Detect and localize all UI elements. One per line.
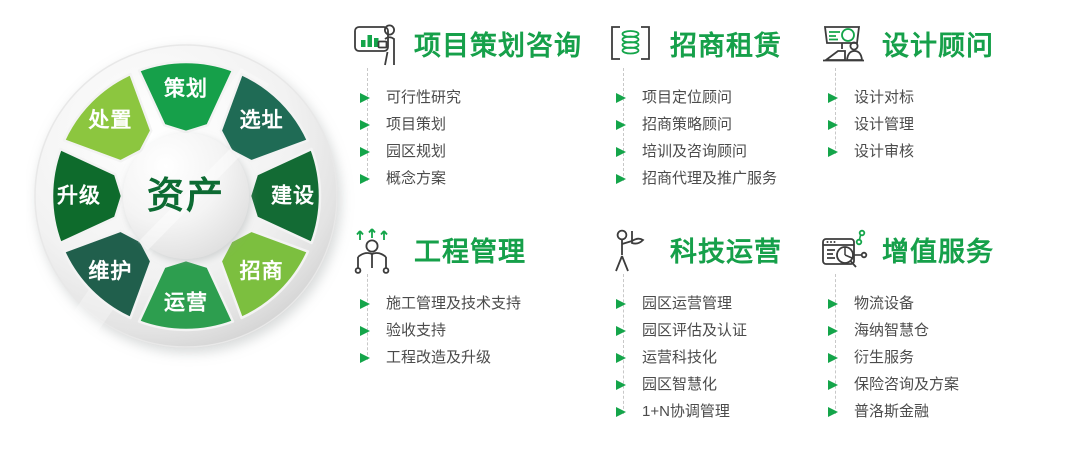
group-items: 物流设备 海纳智慧仓 衍生服务 保险咨询及方案 普洛斯金融 — [820, 290, 994, 425]
bullet-triangle-icon — [616, 353, 626, 363]
connector-dotted-line — [835, 274, 836, 414]
service-group-project-planning: 项目策划咨询 可行性研究 项目策划 园区规划 概念方案 — [352, 16, 582, 192]
group-header: 设计顾问 — [820, 16, 994, 76]
list-item-label: 验收支持 — [386, 322, 446, 339]
bullet-triangle-icon — [360, 326, 370, 336]
wheel-center-label: 资产 — [147, 175, 225, 216]
bullet-triangle-icon — [360, 174, 370, 184]
list-item[interactable]: 设计对标 — [854, 84, 994, 111]
bullet-triangle-icon — [360, 93, 370, 103]
bullet-triangle-icon — [360, 147, 370, 157]
service-group-leasing: 招商租赁 项目定位顾问 招商策略顾问 培训及咨询顾问 招商代理及推广服务 — [608, 16, 782, 192]
service-group-tech-operations: 科技运营 园区运营管理 园区评估及认证 运营科技化 园区智慧化 1+N协调管理 — [608, 222, 782, 425]
group-header: 工程管理 — [352, 222, 526, 282]
services-panel: 项目策划咨询 可行性研究 项目策划 园区规划 概念方案 — [352, 10, 1068, 460]
bullet-triangle-icon — [828, 299, 838, 309]
bullet-triangle-icon — [828, 353, 838, 363]
bullet-triangle-icon — [828, 147, 838, 157]
bullet-triangle-icon — [616, 326, 626, 336]
list-item[interactable]: 园区评估及认证 — [642, 317, 782, 344]
designer-monitor-icon — [820, 21, 872, 71]
group-header: 招商租赁 — [608, 16, 782, 76]
list-item-label: 物流设备 — [854, 295, 914, 312]
group-title: 招商租赁 — [670, 33, 782, 60]
coins-stack-icon — [608, 21, 660, 71]
group-header: 项目策划咨询 — [352, 16, 582, 76]
wheel-segment-label: 建设 — [271, 184, 315, 208]
list-item[interactable]: 设计管理 — [854, 111, 994, 138]
service-group-design-consulting: 设计顾问 设计对标 设计管理 设计审核 — [820, 16, 994, 165]
bullet-triangle-icon — [616, 407, 626, 417]
list-item[interactable]: 海纳智慧仓 — [854, 317, 994, 344]
list-item-label: 园区规划 — [386, 143, 446, 160]
bullet-triangle-icon — [616, 147, 626, 157]
bullet-triangle-icon — [828, 407, 838, 417]
list-item[interactable]: 可行性研究 — [386, 84, 582, 111]
list-item[interactable]: 工程改造及升级 — [386, 344, 526, 371]
service-group-engineering-management: 工程管理 施工管理及技术支持 验收支持 工程改造及升级 — [352, 222, 526, 371]
list-item-label: 园区运营管理 — [642, 295, 732, 312]
list-item-label: 设计管理 — [854, 116, 914, 133]
list-item[interactable]: 招商策略顾问 — [642, 111, 782, 138]
list-item[interactable]: 保险咨询及方案 — [854, 371, 994, 398]
bullet-triangle-icon — [828, 93, 838, 103]
person-up-arrows-icon — [352, 227, 404, 277]
list-item[interactable]: 普洛斯金融 — [854, 398, 994, 425]
bullet-triangle-icon — [616, 380, 626, 390]
list-item-label: 项目定位顾问 — [642, 89, 732, 106]
presentation-chart-person-icon — [352, 21, 404, 71]
group-title: 科技运营 — [670, 239, 782, 266]
list-item[interactable]: 招商代理及推广服务 — [642, 165, 782, 192]
browser-magnifier-icon — [820, 227, 872, 277]
list-item-label: 保险咨询及方案 — [854, 376, 959, 393]
bullet-triangle-icon — [828, 380, 838, 390]
wheel-segment-label: 运营 — [164, 291, 208, 315]
bullet-triangle-icon — [360, 353, 370, 363]
bullet-triangle-icon — [616, 93, 626, 103]
list-item-label: 运营科技化 — [642, 349, 717, 366]
list-item-label: 1+N协调管理 — [642, 403, 730, 420]
group-items: 可行性研究 项目策划 园区规划 概念方案 — [352, 84, 582, 192]
service-group-value-added-services: 增值服务 物流设备 海纳智慧仓 衍生服务 保险咨询及方案 普洛斯金融 — [820, 222, 994, 425]
person-flag-icon — [608, 227, 660, 277]
list-item-label: 普洛斯金融 — [854, 403, 929, 420]
list-item[interactable]: 园区运营管理 — [642, 290, 782, 317]
asset-lifecycle-wheel: 资产 策划选址建设招商运营维护升级处置 — [26, 28, 356, 378]
list-item[interactable]: 施工管理及技术支持 — [386, 290, 526, 317]
group-header: 增值服务 — [820, 222, 994, 282]
list-item-label: 招商策略顾问 — [642, 116, 732, 133]
list-item-label: 可行性研究 — [386, 89, 461, 106]
group-title: 增值服务 — [882, 239, 994, 266]
group-items: 项目定位顾问 招商策略顾问 培训及咨询顾问 招商代理及推广服务 — [608, 84, 782, 192]
wheel-segment-label: 选址 — [240, 109, 284, 132]
list-item[interactable]: 1+N协调管理 — [642, 398, 782, 425]
wheel-segment-label: 维护 — [88, 259, 132, 283]
list-item-label: 工程改造及升级 — [386, 349, 491, 366]
list-item-label: 衍生服务 — [854, 349, 914, 366]
bullet-triangle-icon — [360, 120, 370, 130]
list-item[interactable]: 园区规划 — [386, 138, 582, 165]
bullet-triangle-icon — [360, 299, 370, 309]
list-item-label: 园区智慧化 — [642, 376, 717, 393]
bullet-triangle-icon — [616, 299, 626, 309]
group-items: 园区运营管理 园区评估及认证 运营科技化 园区智慧化 1+N协调管理 — [608, 290, 782, 425]
wheel-segment-label: 策划 — [164, 77, 208, 101]
connector-dotted-line — [623, 274, 624, 414]
list-item[interactable]: 培训及咨询顾问 — [642, 138, 782, 165]
list-item-label: 项目策划 — [386, 116, 446, 133]
list-item[interactable]: 项目策划 — [386, 111, 582, 138]
wheel-segment-label: 招商 — [240, 259, 284, 283]
bullet-triangle-icon — [828, 120, 838, 130]
group-title: 工程管理 — [414, 239, 526, 266]
wheel-segment-label: 处置 — [87, 109, 132, 132]
connector-dotted-line — [835, 68, 836, 154]
group-title: 项目策划咨询 — [414, 33, 582, 60]
group-items: 施工管理及技术支持 验收支持 工程改造及升级 — [352, 290, 526, 371]
list-item[interactable]: 衍生服务 — [854, 344, 994, 371]
bullet-triangle-icon — [616, 174, 626, 184]
list-item-label: 培训及咨询顾问 — [642, 143, 747, 160]
list-item[interactable]: 物流设备 — [854, 290, 994, 317]
list-item[interactable]: 验收支持 — [386, 317, 526, 344]
bullet-triangle-icon — [828, 326, 838, 336]
list-item-label: 概念方案 — [386, 170, 446, 187]
connector-dotted-line — [367, 274, 368, 360]
group-items: 设计对标 设计管理 设计审核 — [820, 84, 994, 165]
group-header: 科技运营 — [608, 222, 782, 282]
group-title: 设计顾问 — [882, 33, 994, 60]
list-item[interactable]: 项目定位顾问 — [642, 84, 782, 111]
list-item[interactable]: 运营科技化 — [642, 344, 782, 371]
wheel-svg: 资产 策划选址建设招商运营维护升级处置 — [26, 28, 356, 378]
list-item[interactable]: 园区智慧化 — [642, 371, 782, 398]
wheel-segment-label: 升级 — [57, 184, 101, 208]
list-item[interactable]: 概念方案 — [386, 165, 582, 192]
list-item-label: 施工管理及技术支持 — [386, 295, 521, 312]
list-item-label: 海纳智慧仓 — [854, 322, 929, 339]
list-item-label: 设计审核 — [854, 143, 914, 160]
bullet-triangle-icon — [616, 120, 626, 130]
list-item[interactable]: 设计审核 — [854, 138, 994, 165]
list-item-label: 招商代理及推广服务 — [642, 170, 777, 187]
infographic-root: 资产 策划选址建设招商运营维护升级处置 — [0, 0, 1080, 465]
list-item-label: 设计对标 — [854, 89, 914, 106]
list-item-label: 园区评估及认证 — [642, 322, 747, 339]
